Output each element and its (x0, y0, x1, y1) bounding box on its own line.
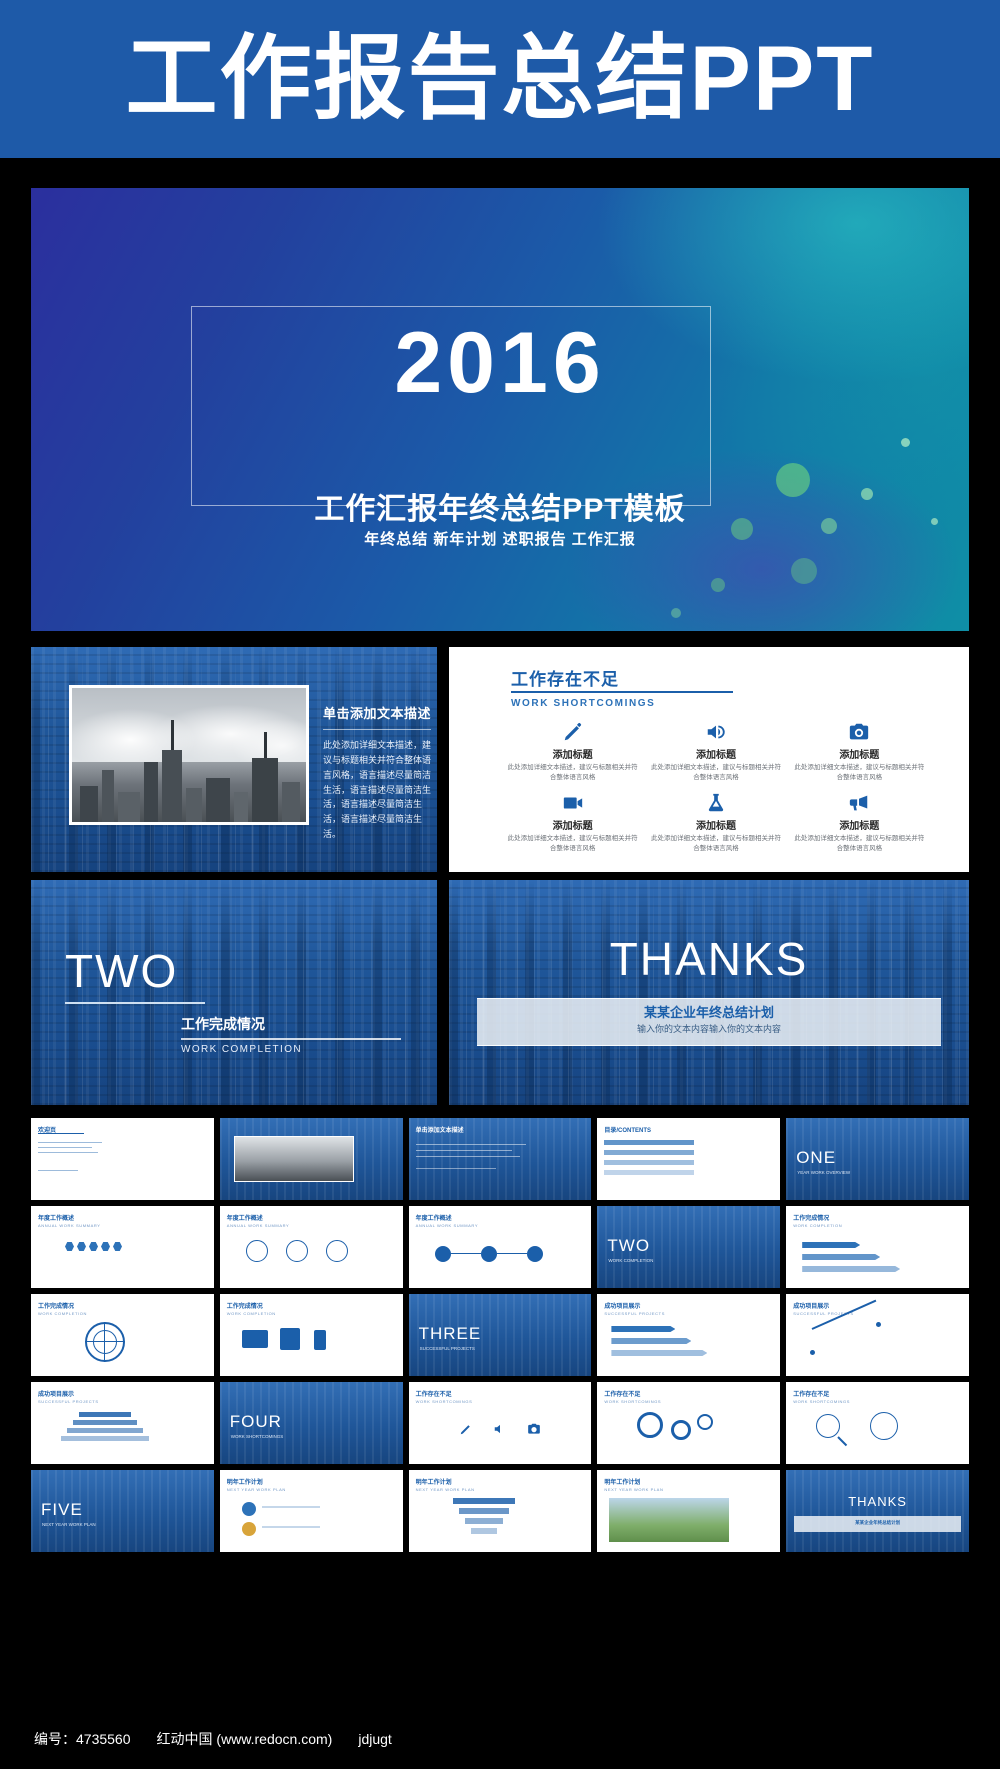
thumb-bar (604, 1140, 694, 1145)
hero-subtitle: 工作汇报年终总结PPT模板 (31, 484, 969, 528)
shortcomings-item[interactable]: 添加标题 此处添加详细文本描述，建议与标题相关并符合整体语言风格 (788, 719, 931, 784)
connector (497, 1253, 527, 1254)
circle-shape (326, 1240, 348, 1262)
banner-title: 工作报告总结PPT (126, 33, 875, 125)
gear-icon (637, 1412, 663, 1438)
thumb-number: TWO (607, 1236, 650, 1256)
divider (511, 691, 733, 693)
thumb-title: 工作完成情况 (227, 1301, 263, 1310)
megaphone-icon (794, 790, 925, 816)
photo-spire (171, 720, 174, 750)
thumbnail-slide[interactable] (220, 1118, 403, 1200)
thumb-title: 成功项目展示 (604, 1301, 640, 1310)
slide-row-3: TWO 工作完成情况 WORK COMPLETION THANKS 某某企业年终… (31, 880, 969, 1105)
icon-row (409, 1394, 592, 1464)
thumb-bar (604, 1150, 694, 1155)
shortcomings-subtitle: WORK SHORTCOMINGS (511, 698, 655, 709)
circle-shape (286, 1240, 308, 1262)
thumb-title: 目录/CONTENTS (604, 1125, 651, 1134)
shortcomings-item[interactable]: 添加标题 此处添加详细文本描述，建议与标题相关并符合整体语言风格 (788, 790, 931, 855)
photo-spire (264, 732, 267, 758)
shortcomings-icon-grid: 添加标题 此处添加详细文本描述，建议与标题相关并符合整体语言风格 添加标题 此处… (501, 719, 931, 855)
arrow-shape (802, 1266, 900, 1272)
pencil-icon (507, 719, 638, 745)
page-footer: 编号：4735560 红动中国 (www.redocn.com) jdjugt (0, 1709, 1000, 1769)
hexagon-icon (77, 1242, 86, 1251)
thumb-photo (609, 1498, 729, 1542)
camera-icon (527, 1422, 541, 1436)
connector (451, 1253, 481, 1254)
item-heading: 添加标题 (650, 746, 781, 761)
thumb-line (38, 1147, 92, 1148)
shortcomings-item[interactable]: 添加标题 此处添加详细文本描述，建议与标题相关并符合整体语言风格 (501, 790, 644, 855)
thumbnail-slide[interactable]: 工作存在不足 WORK SHORTCOMINGS (786, 1382, 969, 1464)
thumb-photo (234, 1136, 354, 1182)
photo-building (162, 750, 182, 822)
pyramid-layer (73, 1420, 137, 1425)
thumb-title: 工作存在不足 (793, 1389, 829, 1398)
thumbnail-slide[interactable]: 工作完成情况 WORK COMPLETION (31, 1294, 214, 1376)
crosshair (104, 1322, 105, 1362)
magnifier-icon (816, 1414, 840, 1438)
hero-year: 2016 (31, 320, 969, 406)
thumbnail-slide[interactable]: TWO WORK COMPLETION (597, 1206, 780, 1288)
arrow-shape (611, 1350, 707, 1356)
item-body: 此处添加详细文本描述，建议与标题相关并符合整体语言风格 (794, 763, 925, 784)
section-two-slide[interactable]: TWO 工作完成情况 WORK COMPLETION (31, 880, 437, 1105)
photo-building (282, 782, 300, 822)
numbered-dot (527, 1246, 543, 1262)
thumbnail-slide[interactable]: 欢迎页 (31, 1118, 214, 1200)
divider (323, 729, 431, 730)
thumb-title: 年度工作概述 (416, 1213, 452, 1222)
thumb-subtitle: NEXT YEAR WORK PLAN (42, 1522, 96, 1527)
item-body: 此处添加详细文本描述，建议与标题相关并符合整体语言风格 (507, 763, 638, 784)
thumb-line (262, 1526, 320, 1528)
thumb-subtitle: WORK COMPLETION (608, 1258, 653, 1263)
thumb-title: 工作完成情况 (38, 1301, 74, 1310)
thanks-title-cn: 某某企业年终总结计划 (449, 1002, 969, 1021)
thumb-subtitle: SUCCESSFUL PROJECTS (420, 1346, 475, 1351)
thumbnail-grid: 欢迎页 单击添加文本描述 目录/CONTENTS ONE YEAR WORK O… (31, 1118, 969, 1552)
thumb-title: 成功项目展示 (38, 1389, 74, 1398)
thumb-subtitle: WORK COMPLETION (793, 1223, 842, 1228)
thumb-subtitle: NEXT YEAR WORK PLAN (227, 1487, 286, 1492)
data-point (876, 1322, 881, 1327)
divider (181, 1038, 401, 1040)
item-heading: 添加标题 (507, 817, 638, 832)
thumbnail-slide[interactable]: 年度工作概述 ANNUAL WORK SUMMARY (31, 1206, 214, 1288)
slide-row-2: 单击添加文本描述 此处添加详细文本描述，建议与标题相关并符合整体语言风格，语言描… (31, 647, 969, 872)
pyramid-layer (79, 1412, 131, 1417)
bokeh-decor (671, 608, 681, 618)
photo-slide-title: 单击添加文本描述 (323, 703, 431, 722)
thumbnail-slide[interactable]: ONE YEAR WORK OVERVIEW (786, 1118, 969, 1200)
hexagon-icon (89, 1242, 98, 1251)
city-background (786, 1470, 969, 1552)
arrow-shape (611, 1326, 675, 1332)
thumb-title: 明年工作计划 (416, 1477, 452, 1486)
thumb-subtitle: NEXT YEAR WORK PLAN (604, 1487, 663, 1492)
thanks-word: THANKS (449, 932, 969, 986)
thumbnail-slide[interactable]: 工作存在不足 WORK SHORTCOMINGS (597, 1382, 780, 1464)
thumbnail-slide[interactable]: 明年工作计划 NEXT YEAR WORK PLAN (220, 1470, 403, 1552)
thumbnail-slide[interactable]: FOUR WORK SHORTCOMINGS (220, 1382, 403, 1464)
flask-icon (650, 790, 781, 816)
thumb-subtitle: SUCCESSFUL PROJECTS (38, 1399, 99, 1404)
thumbnail-slide[interactable]: 工作完成情况 WORK COMPLETION (220, 1294, 403, 1376)
thumbnail-slide[interactable]: 工作完成情况 WORK COMPLETION (786, 1206, 969, 1288)
badge-icon (242, 1522, 256, 1536)
section-number: TWO (65, 944, 178, 998)
item-heading: 添加标题 (794, 817, 925, 832)
footer-code: jdjugt (358, 1731, 391, 1747)
thumbnail-slide[interactable]: 成功项目展示 SUCCESSFUL PROJECTS (786, 1294, 969, 1376)
thanks-subtitle: 输入你的文本内容输入你的文本内容 (449, 1022, 969, 1035)
thumbnail-slide[interactable]: 单击添加文本描述 (409, 1118, 592, 1200)
thumbnail-slide[interactable]: 年度工作概述 ANNUAL WORK SUMMARY (220, 1206, 403, 1288)
funnel-layer (459, 1508, 509, 1514)
item-heading: 添加标题 (794, 746, 925, 761)
photo-building (252, 758, 278, 822)
thumb-subtitle: WORK COMPLETION (227, 1311, 276, 1316)
thumb-number: ONE (796, 1148, 836, 1168)
divider (65, 1002, 205, 1004)
item-heading: 添加标题 (650, 817, 781, 832)
city-background (449, 880, 969, 1105)
thumb-subtitle: ANNUAL WORK SUMMARY (227, 1223, 290, 1228)
thumbnail-slide[interactable]: 明年工作计划 NEXT YEAR WORK PLAN (597, 1470, 780, 1552)
phone-icon (314, 1330, 326, 1350)
speaker-icon (493, 1422, 507, 1436)
photo-sky (72, 688, 306, 762)
thumb-subtitle: WORK SHORTCOMINGS (793, 1399, 850, 1404)
thumb-subtitle: WORK SHORTCOMINGS (231, 1434, 283, 1439)
bokeh-decor (791, 558, 817, 584)
thumb-line (38, 1142, 102, 1143)
shortcomings-item[interactable]: 添加标题 此处添加详细文本描述，建议与标题相关并符合整体语言风格 (501, 719, 644, 784)
thumbnail-slide[interactable]: 成功项目展示 SUCCESSFUL PROJECTS (31, 1382, 214, 1464)
video-icon (507, 790, 638, 816)
bokeh-decor (711, 578, 725, 592)
thumb-subtitle: YEAR WORK OVERVIEW (797, 1170, 850, 1175)
thumb-number: THANKS (786, 1494, 969, 1509)
circle-shape (870, 1412, 898, 1440)
funnel-layer (465, 1518, 503, 1524)
badge-icon (242, 1502, 256, 1516)
photo-building (144, 762, 158, 822)
item-heading: 添加标题 (507, 746, 638, 761)
section-title-en: WORK COMPLETION (181, 1044, 302, 1055)
thumb-bar (604, 1170, 694, 1175)
divider (38, 1133, 84, 1134)
circle-shape (246, 1240, 268, 1262)
thumb-line (416, 1156, 520, 1157)
hexagon-icon (113, 1242, 122, 1251)
gear-icon (671, 1420, 691, 1440)
camera-icon (794, 719, 925, 745)
photo-building (206, 778, 230, 822)
thumb-number: FOUR (230, 1412, 282, 1432)
thumbnail-slide[interactable]: FIVE NEXT YEAR WORK PLAN (31, 1470, 214, 1552)
thumb-title: 单击添加文本描述 (416, 1125, 464, 1134)
hexagon-icon (65, 1242, 74, 1251)
thumb-subtitle: NEXT YEAR WORK PLAN (416, 1487, 475, 1492)
magnifier-handle (837, 1436, 847, 1446)
footer-id: 编号：4735560 (34, 1729, 131, 1749)
data-point (810, 1350, 815, 1355)
thumb-line (38, 1152, 98, 1153)
thumb-line (416, 1168, 496, 1169)
thanks-slide[interactable]: THANKS 某某企业年终总结计划 输入你的文本内容输入你的文本内容 (449, 880, 969, 1105)
thumb-subtitle: ANNUAL WORK SUMMARY (38, 1223, 101, 1228)
thumb-subtitle: WORK SHORTCOMINGS (604, 1399, 661, 1404)
thumb-title: 工作完成情况 (793, 1213, 829, 1222)
page-banner: 工作报告总结PPT (0, 0, 1000, 158)
pencil-icon (459, 1422, 473, 1436)
photo-building (234, 792, 248, 822)
photo-building (102, 770, 114, 822)
thumb-title: 工作存在不足 (604, 1389, 640, 1398)
photo-slide-body: 此处添加详细文本描述，建议与标题相关并符合整体语言风格，语言描述尽量简洁生活，语… (323, 738, 431, 842)
shortcomings-item[interactable]: 添加标题 此处添加详细文本描述，建议与标题相关并符合整体语言风格 (644, 790, 787, 855)
photo-slide-text: 单击添加文本描述 此处添加详细文本描述，建议与标题相关并符合整体语言风格，语言描… (323, 703, 431, 842)
hexagon-icon (101, 1242, 110, 1251)
footer-site: 红动中国 (www.redocn.com) (157, 1729, 333, 1749)
item-body: 此处添加详细文本描述，建议与标题相关并符合整体语言风格 (650, 834, 781, 855)
thumb-number: FIVE (41, 1500, 83, 1520)
thumb-line (262, 1506, 320, 1508)
shortcomings-title: 工作存在不足 (511, 665, 619, 690)
item-body: 此处添加详细文本描述，建议与标题相关并符合整体语言风格 (794, 834, 925, 855)
photo-text-slide[interactable]: 单击添加文本描述 此处添加详细文本描述，建议与标题相关并符合整体语言风格，语言描… (31, 647, 437, 872)
numbered-dot (435, 1246, 451, 1262)
thumbnail-slide[interactable]: 年度工作概述 ANNUAL WORK SUMMARY (409, 1206, 592, 1288)
thumb-line (416, 1150, 512, 1151)
thumbnail-slide[interactable]: THANKS 某某企业年终总结计划 (786, 1470, 969, 1552)
arrow-shape (802, 1254, 880, 1260)
thumb-title: 成功项目展示 (793, 1301, 829, 1310)
speaker-icon (650, 719, 781, 745)
shortcomings-slide[interactable]: 工作存在不足 WORK SHORTCOMINGS 添加标题 此处添加详细文本描述… (449, 647, 969, 872)
city-photo (69, 685, 309, 825)
thumbnail-slide[interactable]: 目录/CONTENTS (597, 1118, 780, 1200)
hexagon-row (65, 1242, 122, 1251)
bokeh-decor (901, 438, 910, 447)
pyramid-layer (61, 1436, 149, 1441)
radar-circle (93, 1330, 117, 1354)
pyramid-layer (67, 1428, 143, 1433)
numbered-dot (481, 1246, 497, 1262)
item-body: 此处添加详细文本描述，建议与标题相关并符合整体语言风格 (650, 763, 781, 784)
thumb-title: 年度工作概述 (38, 1213, 74, 1222)
tablet-icon (280, 1328, 300, 1350)
thumb-title: 年度工作概述 (227, 1213, 263, 1222)
funnel-layer (471, 1528, 497, 1534)
shortcomings-item[interactable]: 添加标题 此处添加详细文本描述，建议与标题相关并符合整体语言风格 (644, 719, 787, 784)
thumbnail-slide[interactable]: 成功项目展示 SUCCESSFUL PROJECTS (597, 1294, 780, 1376)
thumb-line (38, 1170, 78, 1171)
thumb-bar (604, 1160, 694, 1165)
thumbnail-slide[interactable]: THREE SUCCESSFUL PROJECTS (409, 1294, 592, 1376)
gear-icon (697, 1414, 713, 1430)
hero-slide[interactable]: 2016 工作汇报年终总结PPT模板 年终总结 新年计划 述职报告 工作汇报 (31, 188, 969, 631)
arrow-shape (611, 1338, 691, 1344)
arrow-shape (802, 1242, 860, 1248)
thumb-subtitle: 某某企业年终总结计划 (786, 1520, 969, 1526)
hero-tagline: 年终总结 新年计划 述职报告 工作汇报 (31, 528, 969, 549)
thumbnail-slide[interactable]: 工作存在不足 WORK SHORTCOMINGS (409, 1382, 592, 1464)
funnel-layer (453, 1498, 515, 1504)
thumb-number: THREE (419, 1324, 482, 1344)
photo-building (118, 792, 140, 822)
thumb-subtitle: SUCCESSFUL PROJECTS (604, 1311, 665, 1316)
thumb-subtitle: ANNUAL WORK SUMMARY (416, 1223, 479, 1228)
thumb-line (416, 1144, 526, 1145)
thumb-title: 明年工作计划 (227, 1477, 263, 1486)
thumb-title: 明年工作计划 (604, 1477, 640, 1486)
item-body: 此处添加详细文本描述，建议与标题相关并符合整体语言风格 (507, 834, 638, 855)
crosshair (85, 1341, 125, 1342)
thumb-subtitle: WORK COMPLETION (38, 1311, 87, 1316)
thumbnail-slide[interactable]: 明年工作计划 NEXT YEAR WORK PLAN (409, 1470, 592, 1552)
monitor-icon (242, 1330, 268, 1348)
photo-building (186, 788, 202, 822)
section-title-cn: 工作完成情况 (181, 1014, 265, 1034)
photo-building (80, 786, 98, 822)
